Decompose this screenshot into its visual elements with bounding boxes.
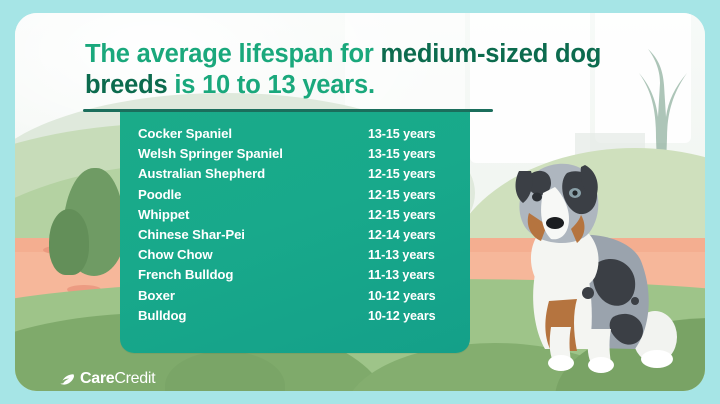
breed-list-panel: Cocker Spaniel13-15 yearsWelsh Springer … (120, 112, 470, 353)
breed-lifespan: 12-15 years (368, 208, 454, 222)
breed-row: French Bulldog11-13 years (138, 267, 454, 287)
logo-name-light: Credit (114, 370, 155, 387)
breed-row: Boxer10-12 years (138, 288, 454, 308)
bush-illustration (49, 209, 89, 275)
breed-lifespan: 11-13 years (368, 268, 454, 282)
australian-shepherd-dog-illustration (485, 141, 690, 373)
breed-name: Australian Shepherd (138, 166, 265, 181)
breed-lifespan: 11-13 years (368, 248, 454, 262)
breed-row: Whippet12-15 years (138, 207, 454, 227)
breed-lifespan: 12-14 years (368, 228, 454, 242)
breed-name: Boxer (138, 288, 175, 303)
breed-row: Welsh Springer Spaniel13-15 years (138, 146, 454, 166)
breed-name: Welsh Springer Spaniel (138, 146, 283, 161)
infographic-card: The average lifespan for medium-sized do… (15, 13, 705, 391)
breed-name: French Bulldog (138, 267, 233, 282)
breed-lifespan: 13-15 years (368, 147, 454, 161)
breed-lifespan: 13-15 years (368, 127, 454, 141)
breed-name: Cocker Spaniel (138, 126, 232, 141)
breed-name: Whippet (138, 207, 189, 222)
breed-row: Australian Shepherd12-15 years (138, 166, 454, 186)
leaf-icon (59, 371, 76, 388)
breed-name: Bulldog (138, 308, 186, 323)
breed-row: Poodle12-15 years (138, 187, 454, 207)
breed-lifespan: 10-12 years (368, 289, 454, 303)
breed-name: Chinese Shar-Pei (138, 227, 245, 242)
logo-wordmark: CareCredit (80, 370, 155, 388)
breed-row: Chinese Shar-Pei12-14 years (138, 227, 454, 247)
breed-row: Bulldog10-12 years (138, 308, 454, 328)
carecredit-logo[interactable]: CareCredit (59, 370, 155, 388)
infographic-canvas: The average lifespan for medium-sized do… (0, 0, 720, 404)
breed-lifespan: 12-15 years (368, 188, 454, 202)
headline-part-3: is 10 to 13 years. (167, 71, 374, 99)
breed-name: Chow Chow (138, 247, 213, 262)
page-title: The average lifespan for medium-sized do… (85, 39, 685, 101)
breed-lifespan: 10-12 years (368, 309, 454, 323)
headline-part-1: The average lifespan for (85, 40, 380, 68)
breed-name: Poodle (138, 187, 181, 202)
breed-row: Cocker Spaniel13-15 years (138, 126, 454, 146)
breed-list: Cocker Spaniel13-15 yearsWelsh Springer … (138, 126, 454, 328)
logo-name-bold: Care (80, 370, 114, 387)
breed-lifespan: 12-15 years (368, 167, 454, 181)
breed-row: Chow Chow11-13 years (138, 247, 454, 267)
